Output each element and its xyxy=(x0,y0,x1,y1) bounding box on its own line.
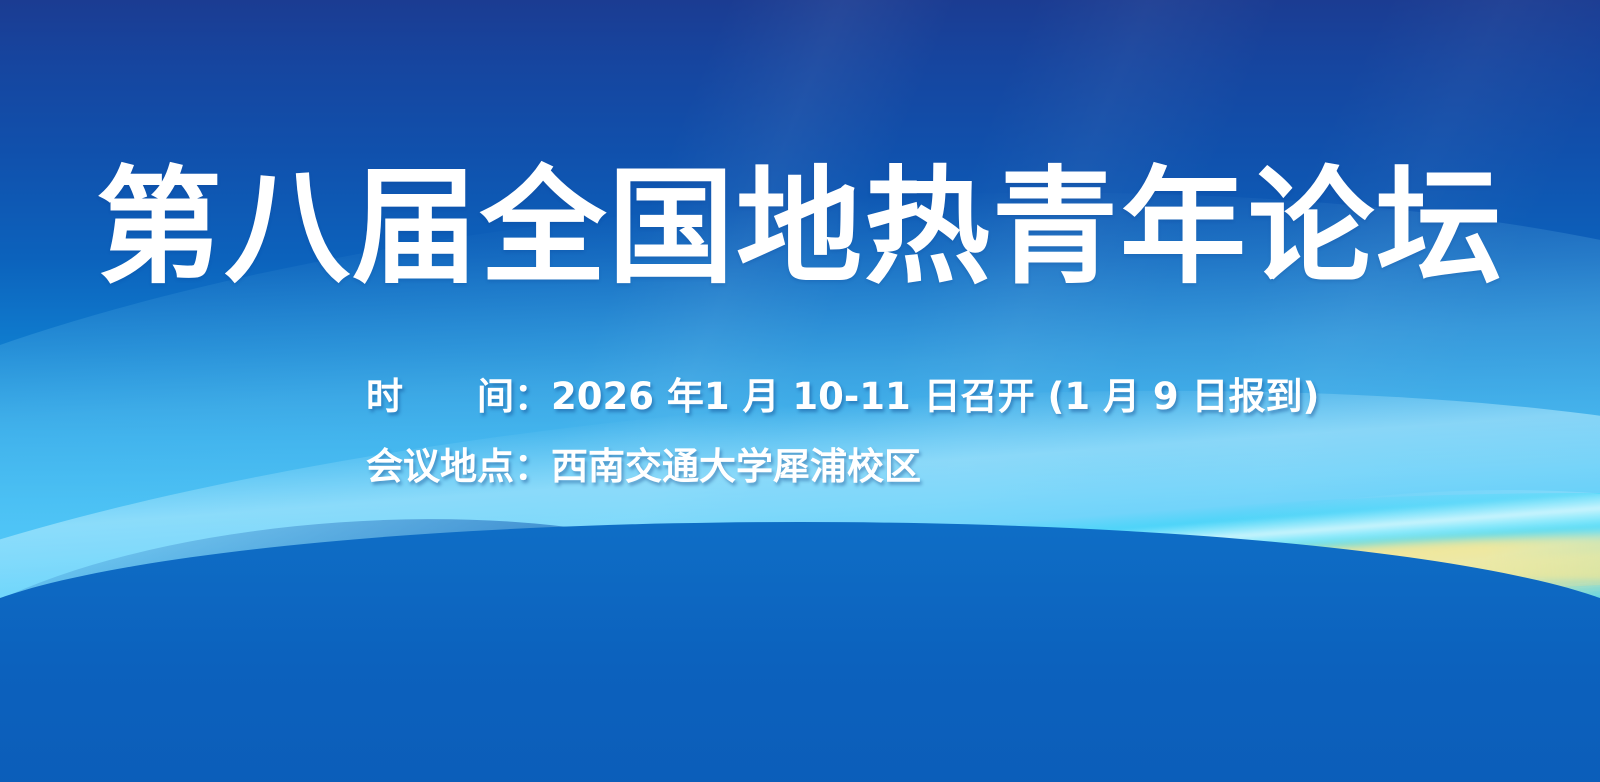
banner-content: 第八届全国地热青年论坛 时 间：2026 年1 月 10-11 日召开 (1 月… xyxy=(0,0,1600,782)
conference-banner: 第八届全国地热青年论坛 时 间：2026 年1 月 10-11 日召开 (1 月… xyxy=(0,0,1600,782)
detail-venue: 会议地点：西南交通大学犀浦校区 xyxy=(366,432,1319,502)
detail-time: 时 间：2026 年1 月 10-11 日召开 (1 月 9 日报到) xyxy=(366,362,1319,432)
banner-title: 第八届全国地热青年论坛 xyxy=(0,160,1600,296)
banner-details: 时 间：2026 年1 月 10-11 日召开 (1 月 9 日报到) 会议地点… xyxy=(366,362,1319,501)
